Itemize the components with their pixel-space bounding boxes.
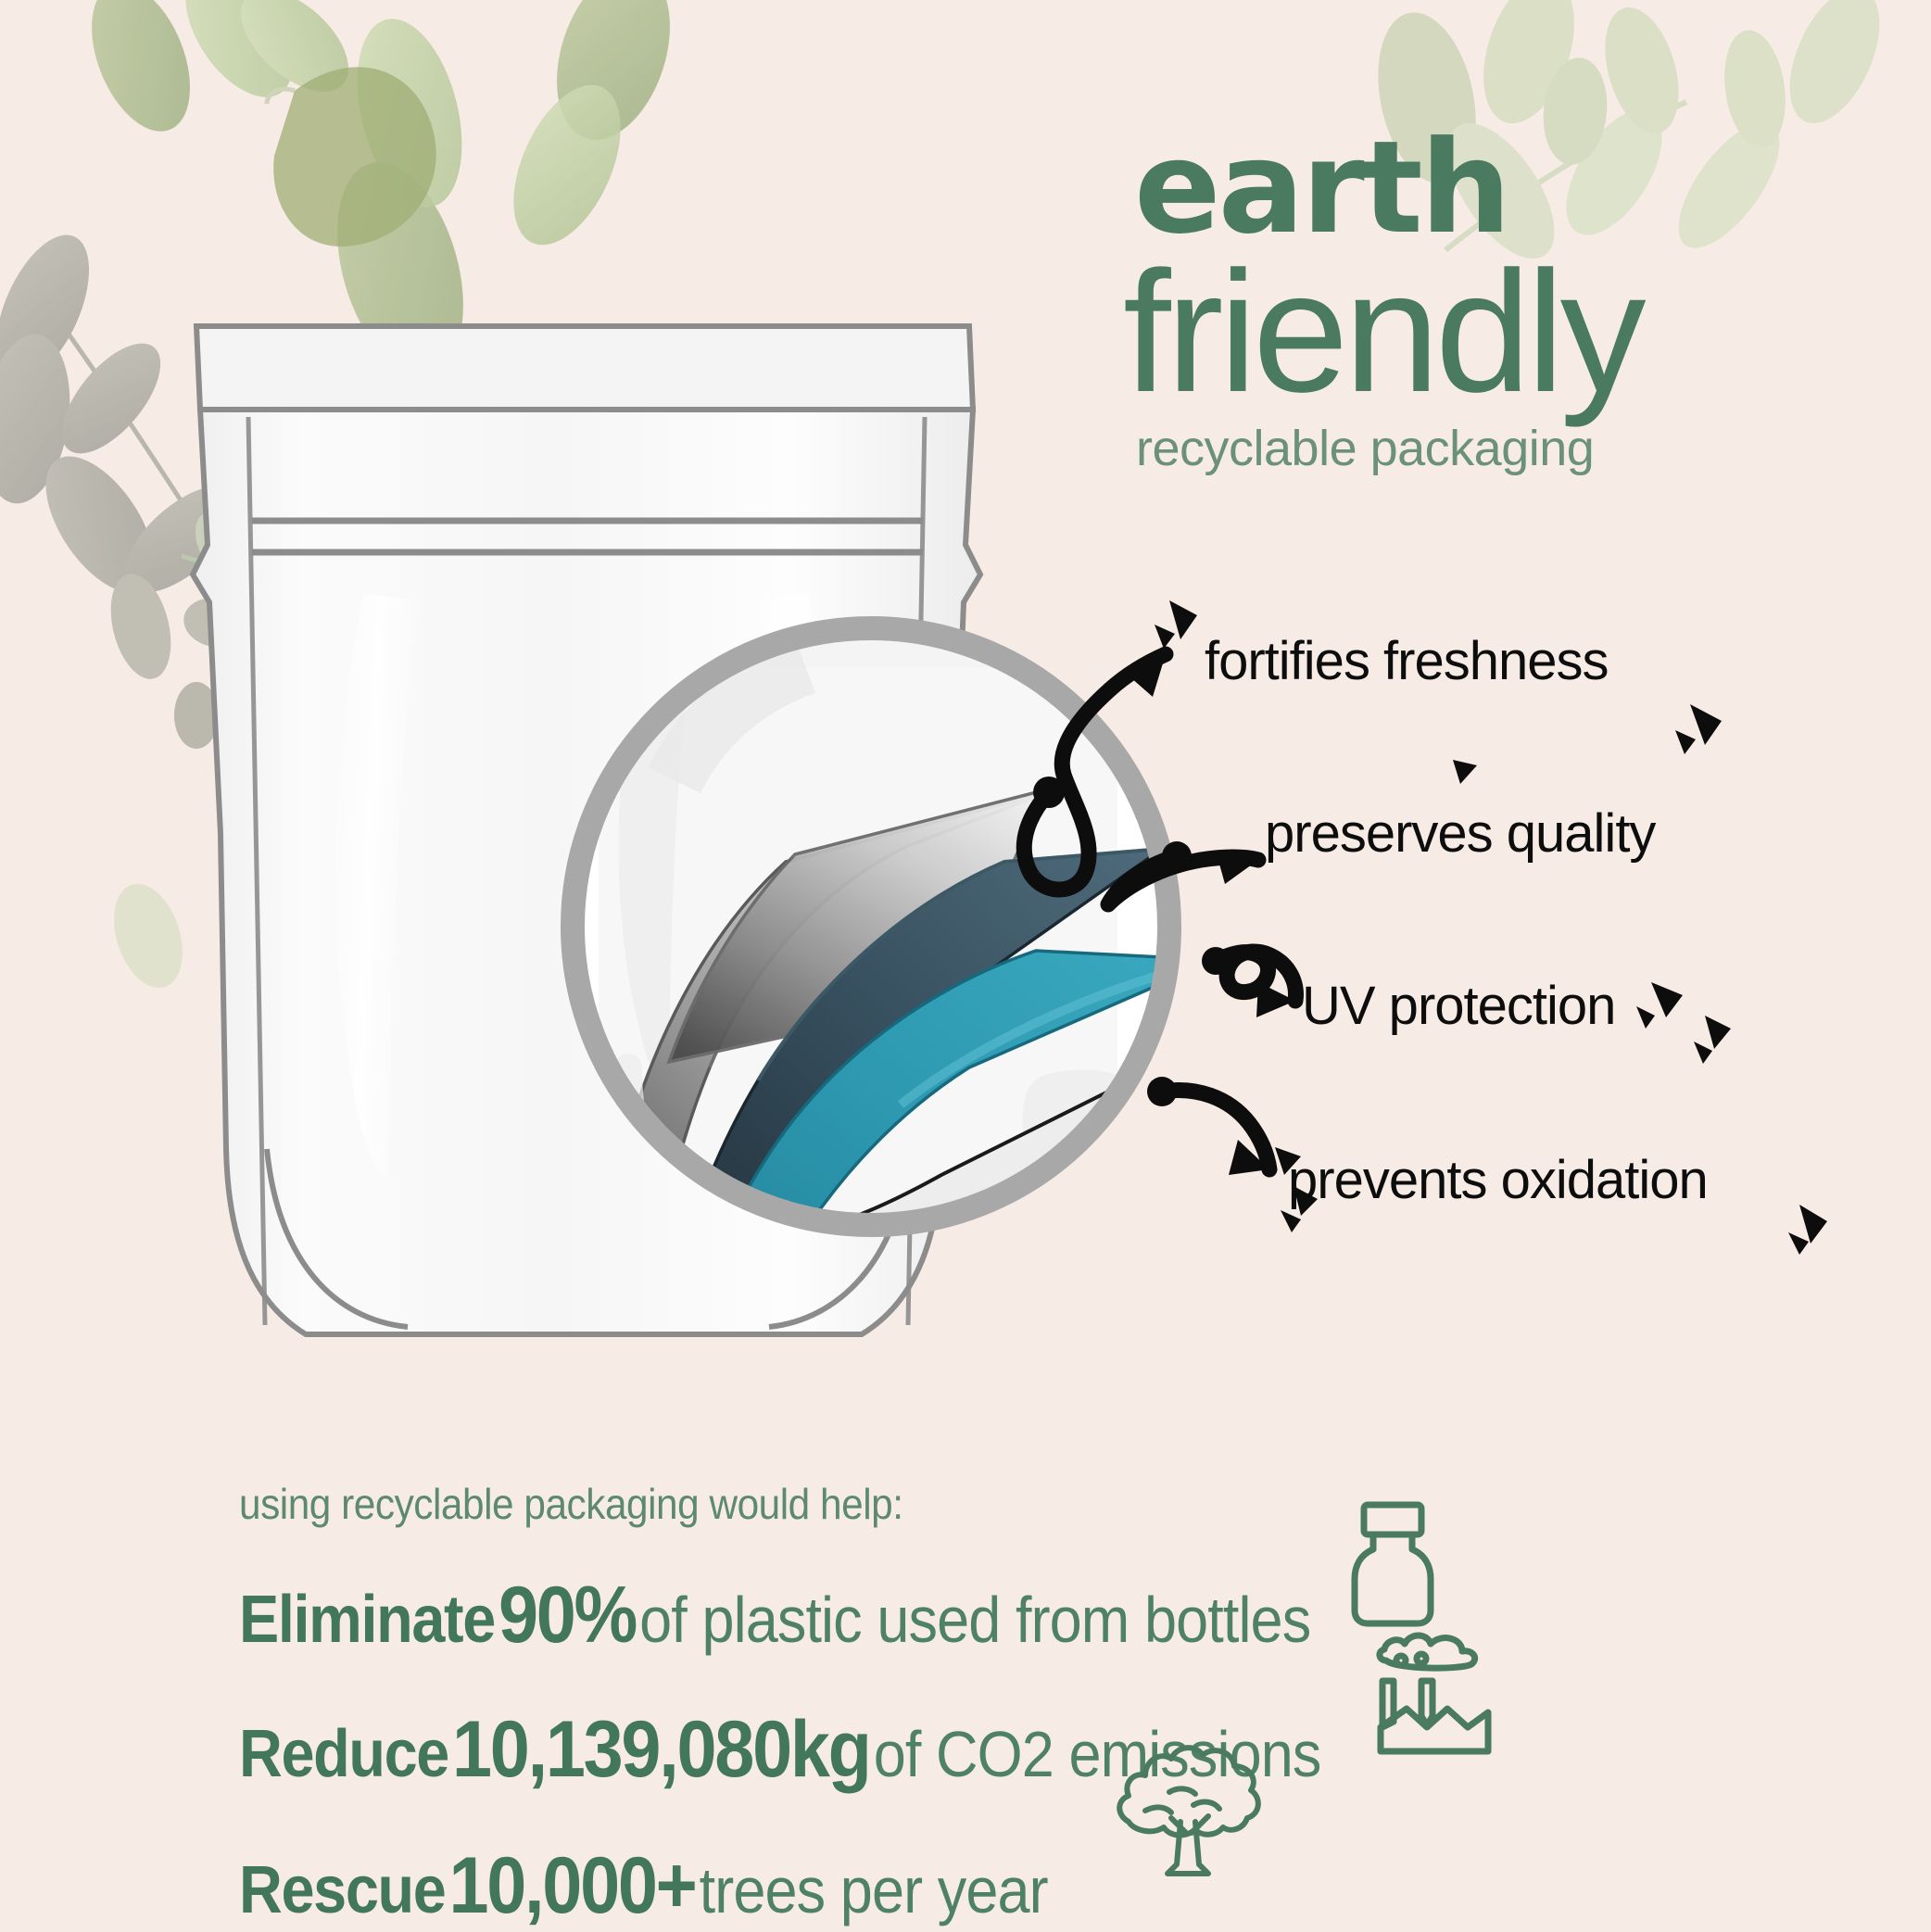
stat-row-trees: Rescue 10,000+ trees per year <box>239 1840 1490 1932</box>
feature-label-uv-protection: UV protection <box>1302 975 1615 1037</box>
headline-subtitle: recyclable packaging <box>1136 420 1870 477</box>
headline-line-2: friendly <box>1123 259 1870 407</box>
stat-number: 10,000+ <box>448 1841 695 1930</box>
stats-intro-text: using recyclable packaging would help: <box>239 1479 1518 1529</box>
infographic-poster: earth friendly recyclable packaging fort… <box>0 0 1931 1932</box>
stat-verb: Reduce <box>239 1717 448 1791</box>
feature-label-fortifies-freshness: fortifies freshness <box>1205 630 1609 692</box>
feature-label-prevents-oxidation: prevents oxidation <box>1288 1149 1708 1211</box>
arrow-dot-2 <box>1162 841 1192 871</box>
feature-label-preserves-quality: preserves quality <box>1265 802 1655 865</box>
arrow-dot-3 <box>1202 947 1230 975</box>
stat-rest: trees per year <box>700 1854 1048 1926</box>
arrow-dot-1 <box>1033 777 1065 808</box>
stat-row-bottles: Eliminate 90% of plastic used from bottl… <box>239 1570 1490 1661</box>
stat-verb: Rescue <box>239 1853 445 1927</box>
stat-rest: of plastic used from bottles <box>639 1584 1310 1656</box>
stat-row-co2: Reduce 10,139,080kg of CO2 emissions <box>239 1704 1490 1796</box>
stat-number: 90% <box>499 1571 636 1660</box>
bottle-icon <box>1332 1499 1451 1629</box>
stat-verb: Eliminate <box>239 1583 495 1657</box>
tree-icon <box>1104 1725 1271 1888</box>
arrow-dot-4 <box>1147 1077 1177 1106</box>
headline-block: earth friendly recyclable packaging <box>1129 130 1870 477</box>
headline-line-1: earth <box>1134 130 1870 247</box>
stat-number: 10,139,080kg <box>452 1705 870 1794</box>
factory-icon <box>1369 1623 1508 1762</box>
